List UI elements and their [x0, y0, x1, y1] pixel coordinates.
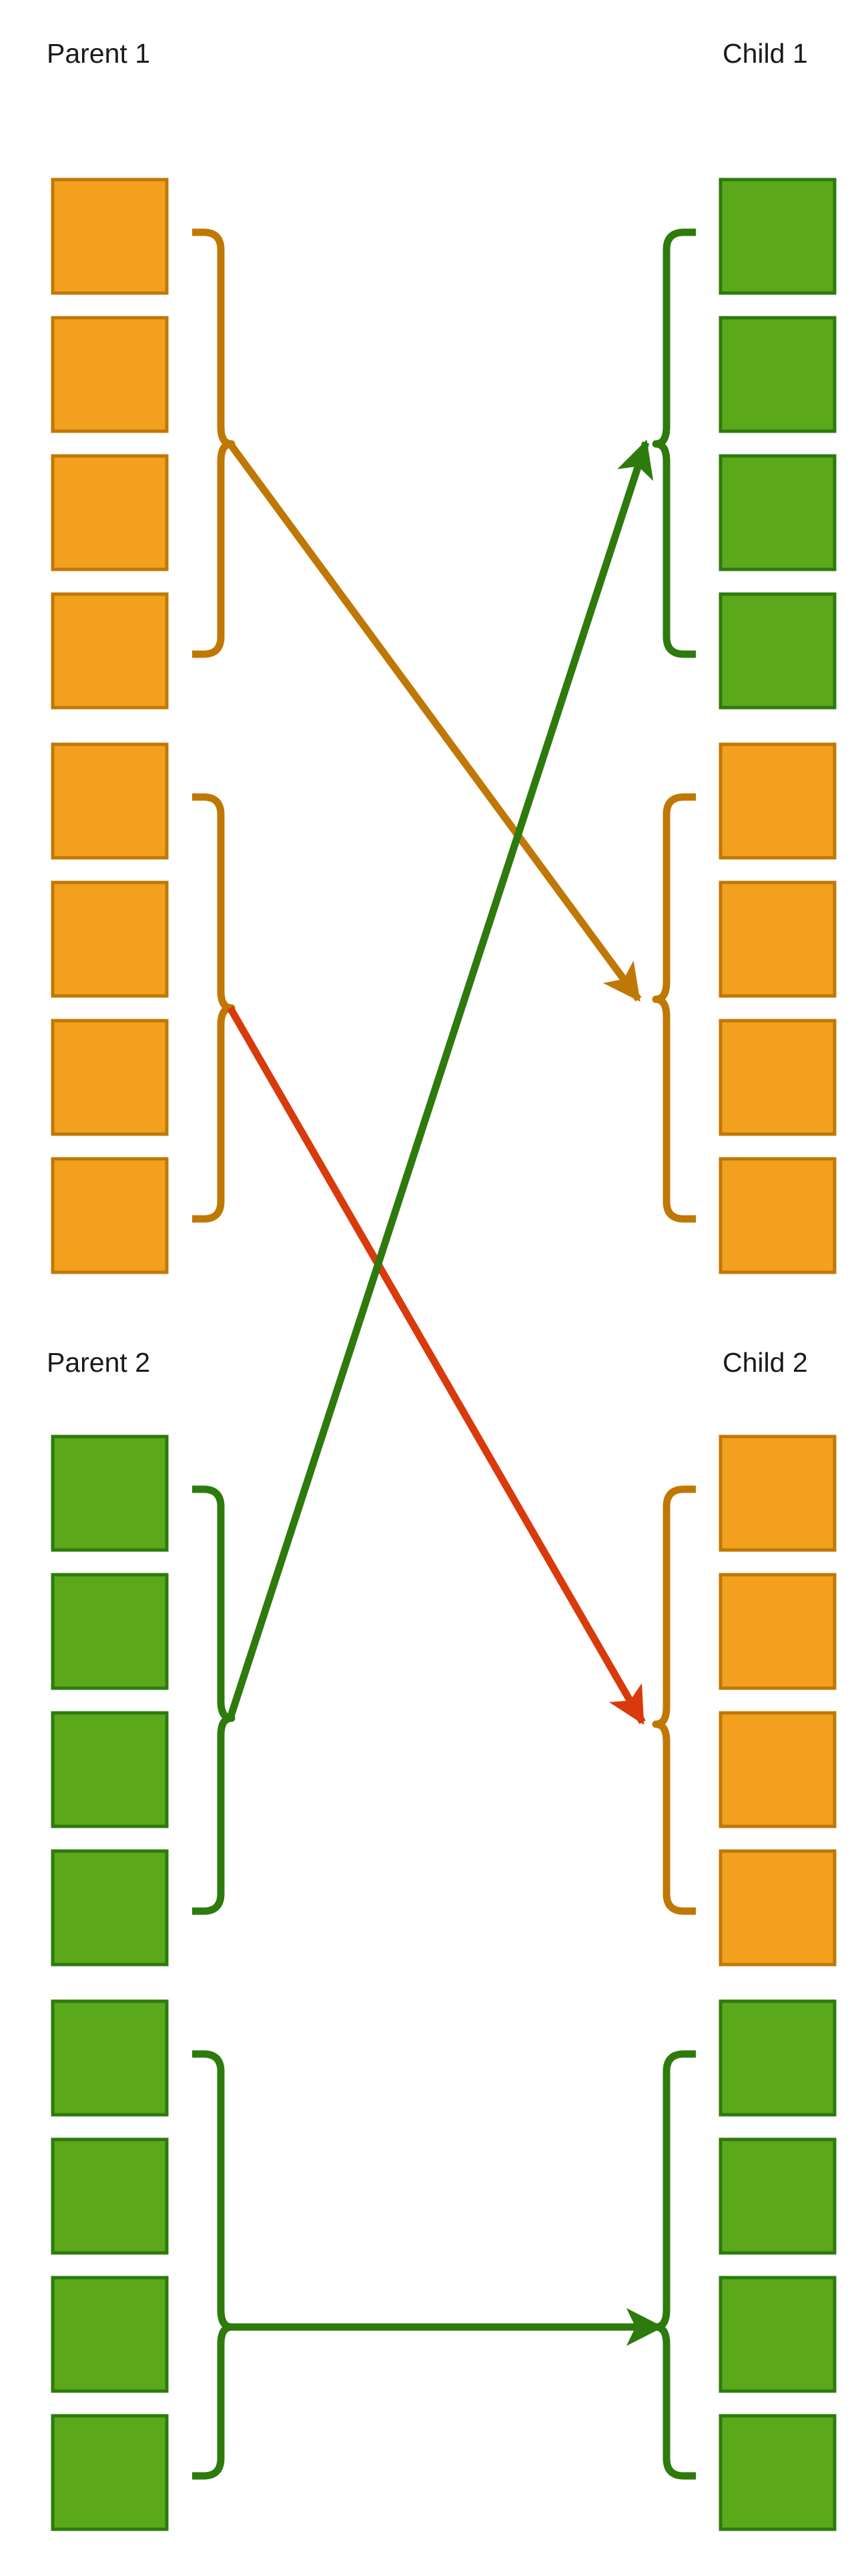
- segment-brace: [656, 1489, 696, 1911]
- gene-box: [53, 882, 167, 996]
- segment-brace: [656, 2054, 696, 2476]
- gene-box: [721, 2001, 835, 2115]
- segment-brace: [192, 1489, 232, 1911]
- gene-box: [53, 318, 167, 431]
- gene-box: [53, 744, 167, 858]
- gene-box: [721, 2278, 835, 2391]
- gene-box: [721, 1437, 835, 1550]
- gene-box: [721, 594, 835, 708]
- gene-box: [53, 1713, 167, 1826]
- segment-braces-layer: [192, 232, 696, 2476]
- gene-box: [721, 744, 835, 858]
- segment-brace: [656, 797, 696, 1219]
- segment-brace: [192, 2054, 232, 2476]
- gene-box: [721, 2416, 835, 2529]
- crossover-arrow: [230, 443, 646, 1718]
- gene-box: [721, 456, 835, 569]
- gene-box: [53, 2001, 167, 2115]
- gene-box: [53, 2139, 167, 2253]
- diagram-vector-layer: [0, 0, 862, 2576]
- gene-boxes-layer: [53, 180, 835, 2529]
- segment-brace: [192, 797, 232, 1219]
- crossover-diagram-canvas: Parent 1 Child 1 Parent 2 Child 2: [0, 0, 862, 2576]
- gene-box: [721, 1021, 835, 1134]
- gene-box: [721, 318, 835, 431]
- gene-box: [721, 882, 835, 996]
- gene-box: [721, 1713, 835, 1826]
- gene-box: [53, 2278, 167, 2391]
- gene-box: [721, 1159, 835, 1272]
- gene-box: [53, 2416, 167, 2529]
- crossover-arrow: [230, 444, 638, 999]
- gene-box: [53, 1851, 167, 1965]
- gene-box: [53, 180, 167, 293]
- gene-box: [53, 1437, 167, 1550]
- segment-brace: [656, 232, 696, 654]
- crossover-arrow: [230, 1008, 642, 1722]
- gene-box: [721, 1851, 835, 1965]
- gene-box: [53, 1575, 167, 1688]
- segment-brace: [192, 232, 232, 654]
- gene-box: [721, 180, 835, 293]
- gene-box: [53, 594, 167, 708]
- gene-box: [721, 2139, 835, 2253]
- crossover-arrows-layer: [224, 443, 661, 2327]
- gene-box: [53, 1021, 167, 1134]
- gene-box: [53, 456, 167, 569]
- gene-box: [53, 1159, 167, 1272]
- gene-box: [721, 1575, 835, 1688]
